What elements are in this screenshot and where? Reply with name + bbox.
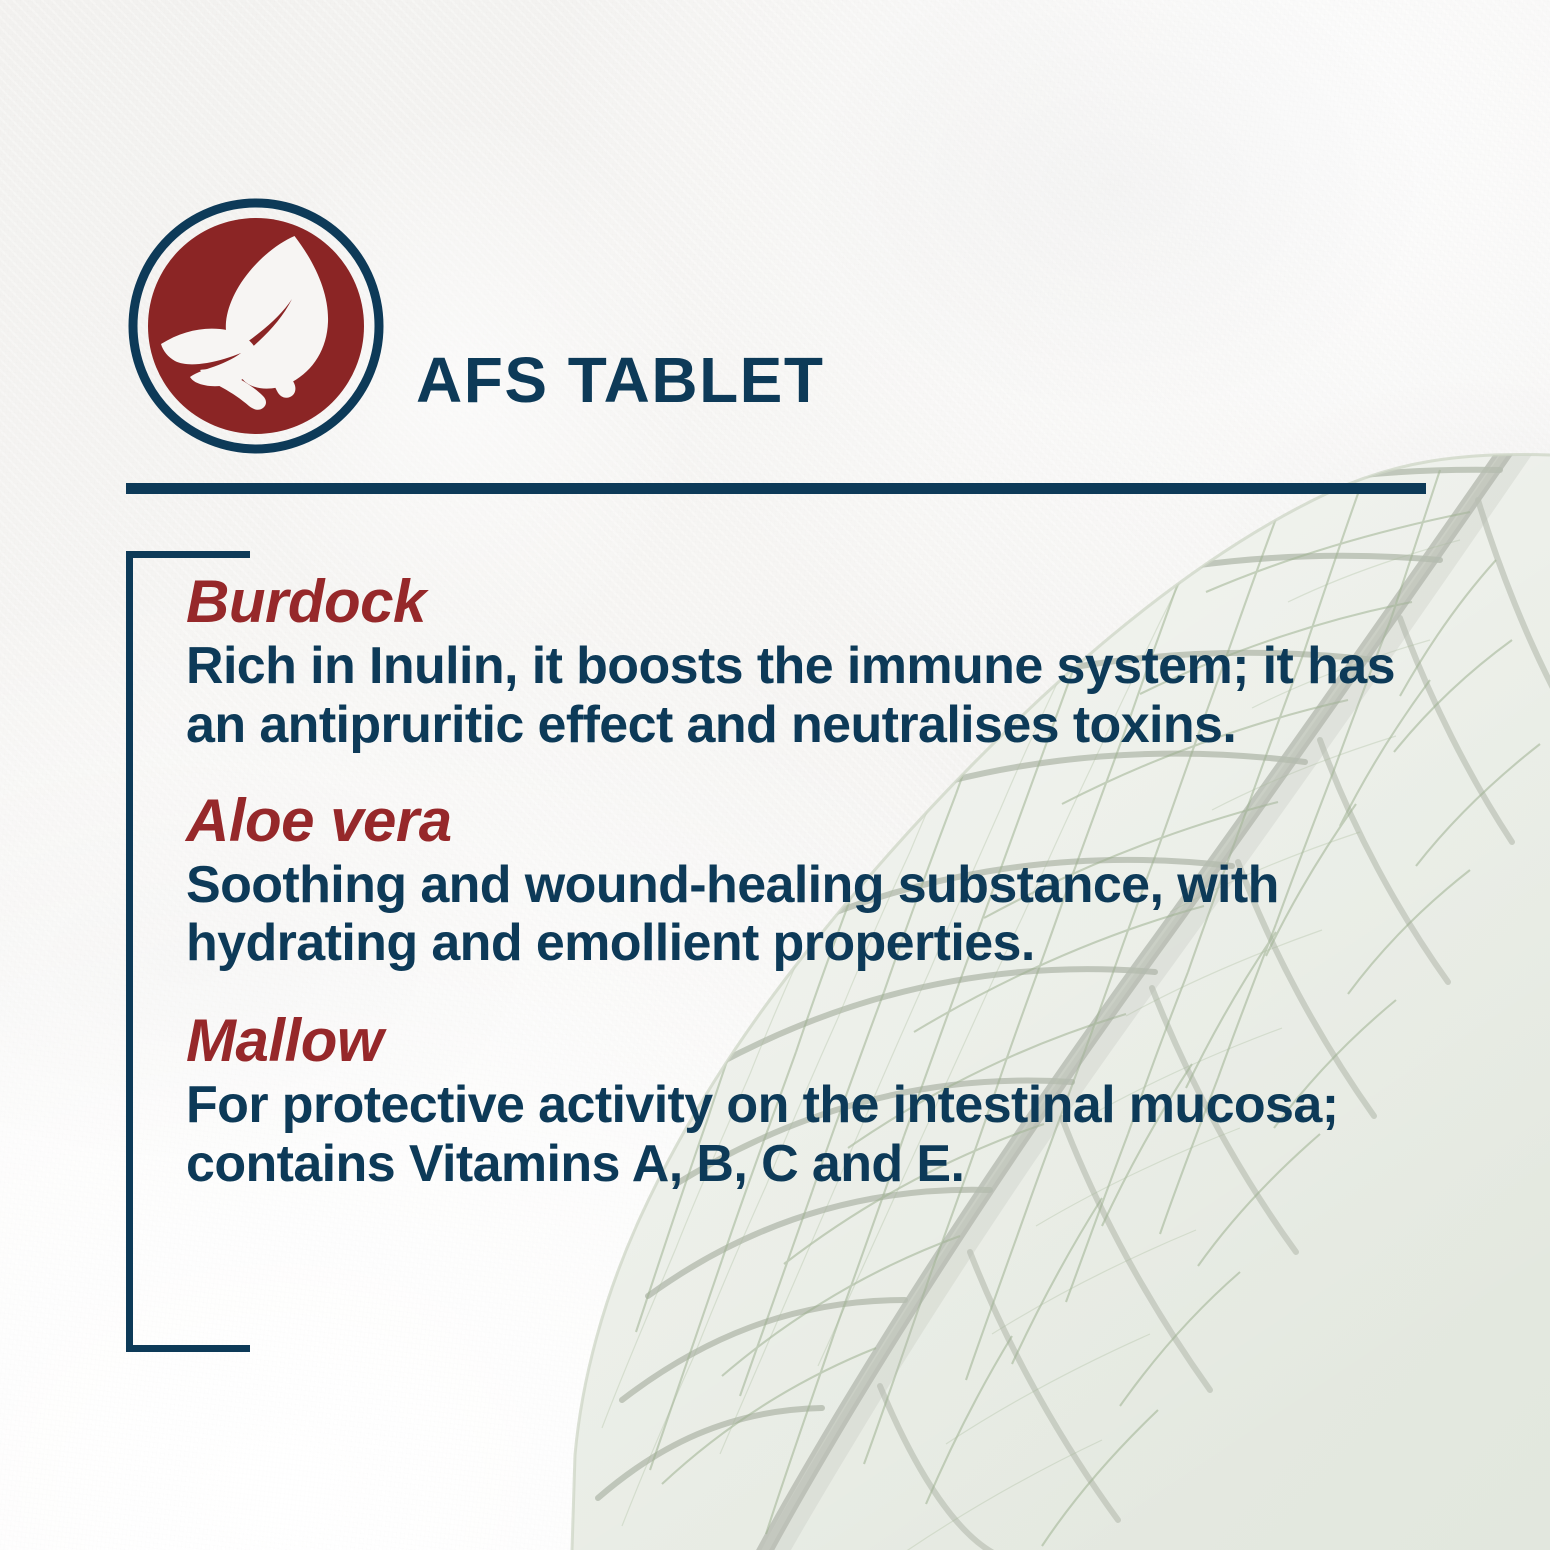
ingredient-description: For protective activity on the intestina… xyxy=(186,1076,1366,1194)
ingredients-list: Burdock Rich in Inulin, it boosts the im… xyxy=(186,570,1436,1214)
header-divider xyxy=(126,483,1426,494)
ingredient-name: Mallow xyxy=(186,1009,1436,1072)
ingredient-item-aloe-vera: Aloe vera Soothing and wound-healing sub… xyxy=(186,789,1436,974)
ingredient-name: Aloe vera xyxy=(186,789,1436,852)
page-title: AFS TABLET xyxy=(416,348,824,412)
product-info-card: AFS TABLET Burdock Rich in Inulin, it bo… xyxy=(0,0,1550,1550)
ingredient-item-burdock: Burdock Rich in Inulin, it boosts the im… xyxy=(186,570,1436,755)
ingredient-item-mallow: Mallow For protective activity on the in… xyxy=(186,1009,1436,1194)
ingredient-name: Burdock xyxy=(186,570,1436,633)
ingredient-description: Soothing and wound-healing substance, wi… xyxy=(186,856,1366,974)
leaf-sprout-icon xyxy=(128,198,384,454)
ingredient-description: Rich in Inulin, it boosts the immune sys… xyxy=(186,637,1416,755)
